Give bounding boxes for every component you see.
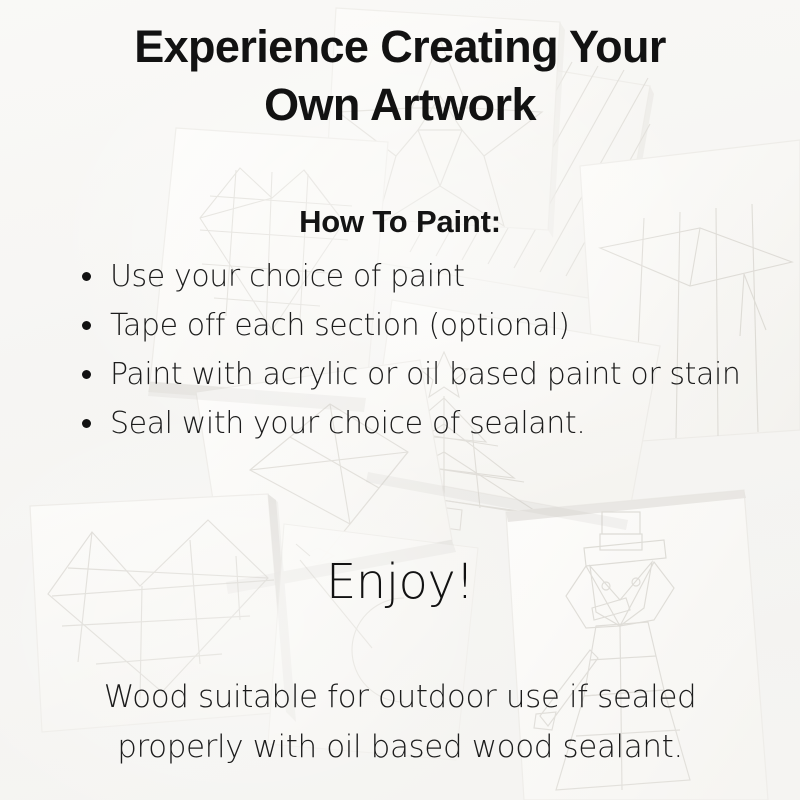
bullet-dot-icon	[82, 272, 91, 281]
list-item-label: Seal with your choice of sealant.	[110, 406, 585, 441]
bullet-dot-icon	[82, 370, 91, 379]
list-item-label: Use your choice of paint	[110, 259, 465, 294]
list-item: Use your choice of paint	[78, 252, 768, 301]
enjoy-callout: Enjoy!	[0, 552, 800, 612]
footnote-text: Wood suitable for outdoor use if sealed …	[30, 672, 770, 772]
instructions-list: Use your choice of paint Tape off each s…	[78, 252, 768, 448]
bullet-dot-icon	[82, 419, 91, 428]
list-item: Tape off each section (optional)	[78, 301, 768, 350]
list-item-label: Tape off each section (optional)	[110, 308, 569, 343]
poster-canvas: Experience Creating Your Own Artwork How…	[0, 0, 800, 800]
how-to-paint-heading: How To Paint:	[0, 204, 800, 240]
list-item-label: Paint with acrylic or oil based paint or…	[110, 357, 741, 392]
bullet-dot-icon	[82, 321, 91, 330]
text-overlay: Experience Creating Your Own Artwork How…	[0, 0, 800, 800]
page-title: Experience Creating Your Own Artwork	[0, 18, 800, 134]
list-item: Seal with your choice of sealant.	[78, 399, 768, 448]
list-item: Paint with acrylic or oil based paint or…	[78, 350, 768, 399]
